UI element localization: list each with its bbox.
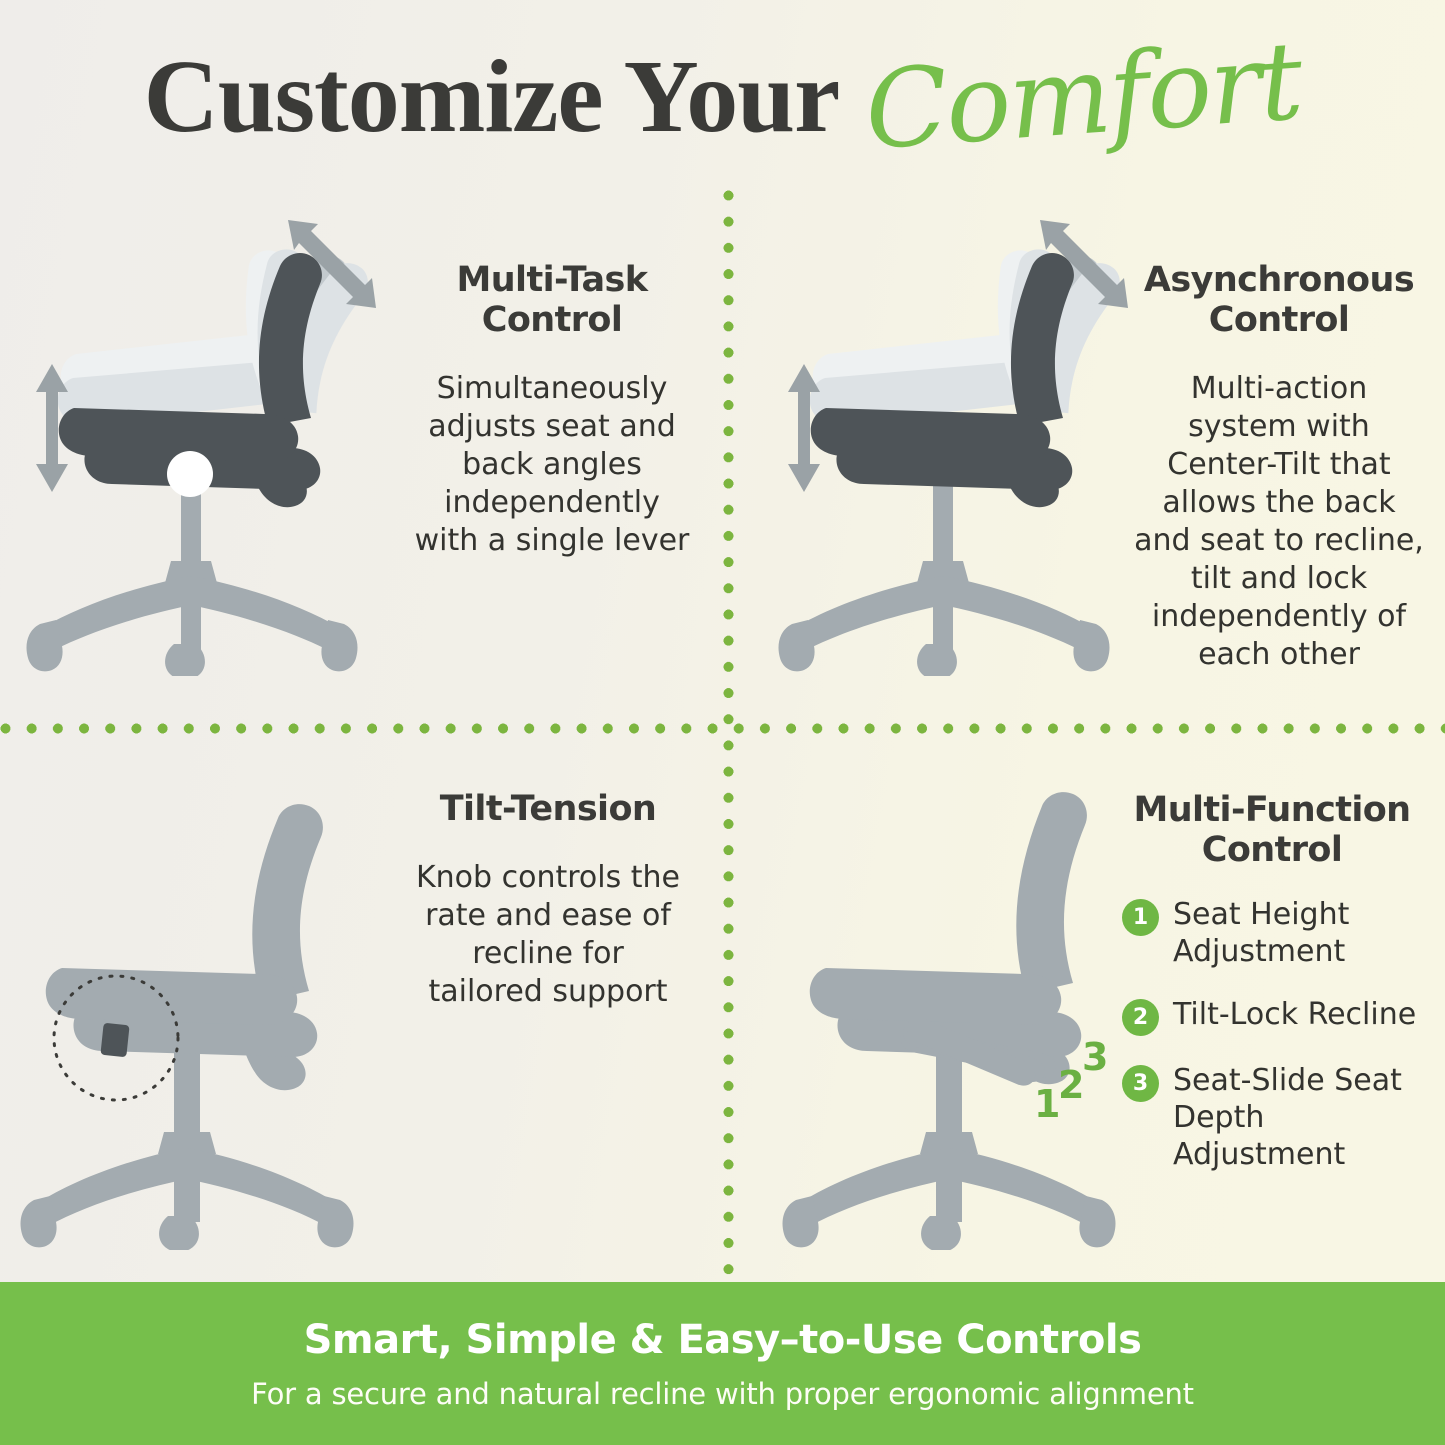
chair-illustration-asynchronous — [770, 196, 1170, 676]
quadrant-title-multi-task: Multi-Task Control — [413, 260, 691, 340]
chair-base-group — [21, 1030, 354, 1250]
list-item-label: Seat-Slide Seat Depth Adjustment — [1173, 1062, 1422, 1173]
quadrant-body-multi-task: Simultaneously adjusts seat and back ang… — [413, 370, 691, 560]
footer-banner: Smart, Simple & Easy–to-Use Controls For… — [0, 1282, 1445, 1445]
chair-base-group — [779, 474, 1110, 676]
chair-svg-asynchronous — [770, 196, 1170, 676]
text-block-multi-function: Multi-Function Control 1 Seat Height Adj… — [1122, 790, 1422, 1199]
quadrant-title-multi-function: Multi-Function Control — [1122, 790, 1422, 870]
quadrant-tilt-tension: Tilt-Tension Knob controls the rate and … — [0, 734, 723, 1275]
quadrant-multi-function-control: 1 2 3 Multi-Function Control 1 Seat Heig… — [734, 734, 1445, 1275]
footer-headline: Smart, Simple & Easy–to-Use Controls — [304, 1317, 1142, 1363]
list-item: 1 Seat Height Adjustment — [1122, 896, 1422, 970]
quadrant-title-line1: Asynchronous — [1144, 260, 1414, 300]
list-item-label: Seat Height Adjustment — [1173, 896, 1422, 970]
lever-number-3-label: 3 — [1082, 1035, 1108, 1079]
badge-number-1: 1 — [1122, 899, 1159, 936]
list-item-label: Tilt-Lock Recline — [1173, 996, 1416, 1033]
list-item: 2 Tilt-Lock Recline — [1122, 996, 1422, 1036]
quadrant-body-asynchronous: Multi-action system with Center-Tilt tha… — [1134, 370, 1424, 674]
text-block-tilt-tension: Tilt-Tension Knob controls the rate and … — [413, 789, 683, 1011]
title-script-text: Comfort — [861, 19, 1305, 174]
badge-number-3: 3 — [1122, 1065, 1159, 1102]
chair-svg-multi-function: 1 2 3 — [770, 780, 1170, 1250]
badge-number-2: 2 — [1122, 999, 1159, 1036]
infographic-page: Customize YourComfort — [0, 0, 1445, 1445]
quadrant-asynchronous-control: Asynchronous Control Multi-action system… — [734, 190, 1445, 723]
title-main-text: Customize Your — [144, 39, 840, 154]
chair-seat — [811, 408, 1050, 462]
list-item: 3 Seat-Slide Seat Depth Adjustment — [1122, 1062, 1422, 1173]
quadrant-title-asynchronous: Asynchronous Control — [1134, 260, 1424, 340]
quadrant-multi-task-control: Multi-Task Control Simultaneously adjust… — [0, 190, 723, 723]
quadrant-title-line2: Control — [482, 300, 622, 340]
page-title: Customize YourComfort — [0, 34, 1445, 159]
text-block-multi-task: Multi-Task Control Simultaneously adjust… — [413, 260, 691, 560]
chair-illustration-multi-task — [18, 196, 418, 676]
quadrant-title-line2: Control — [1202, 830, 1342, 870]
quadrant-body-tilt-tension: Knob controls the rate and ease of recli… — [413, 859, 683, 1011]
lever-number-2-label: 2 — [1058, 1063, 1084, 1107]
quadrant-title-line1: Multi-Task — [457, 260, 648, 300]
quadrant-title-line2: Control — [1209, 300, 1349, 340]
text-block-asynchronous: Asynchronous Control Multi-action system… — [1134, 260, 1424, 674]
chair-backrest — [252, 804, 323, 1002]
chair-base-group — [27, 474, 358, 676]
chair-svg-multi-task — [18, 196, 418, 676]
chair-seat — [810, 968, 1061, 1025]
quadrant-title-line1: Multi-Function — [1133, 790, 1410, 830]
page-header: Customize YourComfort — [0, 0, 1445, 190]
chair-seat — [59, 408, 298, 462]
chair-illustration-multi-function: 1 2 3 — [770, 780, 1170, 1250]
chair-pivot-point — [167, 451, 213, 497]
chair-seat — [46, 968, 297, 1025]
multi-function-feature-list: 1 Seat Height Adjustment 2 Tilt-Lock Rec… — [1122, 896, 1422, 1173]
quadrant-title-tilt-tension: Tilt-Tension — [413, 789, 683, 829]
vertical-dotted-divider — [723, 190, 734, 1275]
footer-subline: For a secure and natural recline with pr… — [251, 1377, 1194, 1411]
chair-illustration-tilt-tension — [16, 780, 416, 1250]
chair-svg-tilt-tension — [16, 780, 416, 1250]
tilt-tension-knob-icon — [100, 1023, 129, 1058]
lever-number-1-label: 1 — [1034, 1082, 1060, 1126]
chair-backrest — [1016, 792, 1087, 994]
